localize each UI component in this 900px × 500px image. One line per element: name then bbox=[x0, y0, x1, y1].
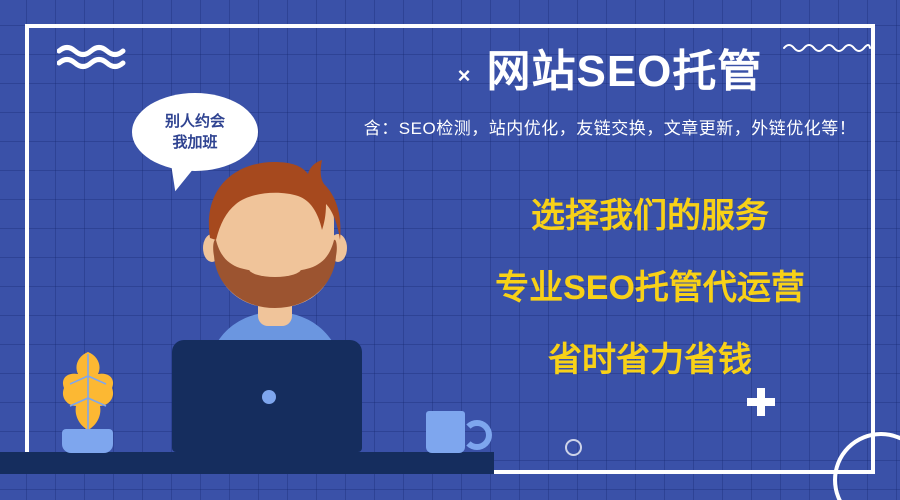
corner-circle-icon bbox=[833, 432, 900, 500]
slogan-block: 选择我们的服务 专业SEO托管代运营 省时省力省钱 bbox=[450, 196, 850, 380]
speech-bubble-line-2: 我加班 bbox=[172, 132, 217, 153]
page-title: 网站SEO托管 bbox=[486, 50, 762, 94]
coffee-mug-handle bbox=[462, 420, 492, 450]
plus-icon bbox=[747, 388, 775, 416]
speech-bubble-line-1: 别人约会 bbox=[165, 111, 225, 132]
slogan-line-3: 省时省力省钱 bbox=[450, 340, 850, 380]
coffee-mug bbox=[426, 411, 465, 453]
slogan-line-2: 专业SEO托管代运营 bbox=[450, 268, 850, 308]
plant-pot bbox=[62, 429, 113, 453]
plant-leaf bbox=[58, 350, 118, 435]
slogan-line-1: 选择我们的服务 bbox=[450, 196, 850, 236]
title-row: × 网站SEO托管 bbox=[330, 44, 890, 100]
headline-block: × 网站SEO托管 含：SEO检测，站内优化，友链交换，文章更新，外链优化等！ bbox=[330, 44, 890, 139]
wave-thick-icon bbox=[57, 44, 127, 70]
page-subtitle: 含：SEO检测，站内优化，友链交换，文章更新，外链优化等！ bbox=[330, 114, 890, 139]
laptop-logo-icon bbox=[262, 390, 276, 404]
x-mark-icon: × bbox=[458, 65, 471, 87]
desk-surface-extension bbox=[294, 452, 494, 474]
seo-promo-poster: × 网站SEO托管 含：SEO检测，站内优化，友链交换，文章更新，外链优化等！ … bbox=[0, 0, 900, 500]
circle-outline-icon bbox=[565, 439, 582, 456]
